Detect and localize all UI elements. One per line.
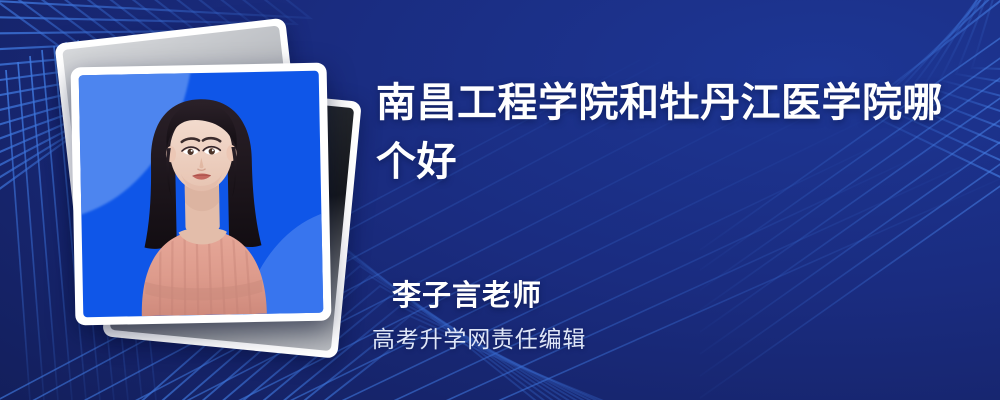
photo-card-front	[71, 63, 332, 326]
author-name: 李子言老师	[392, 272, 542, 314]
author-role: 高考升学网责任编辑	[372, 320, 586, 354]
page-title: 南昌工程学院和牡丹江医学院哪个好	[376, 74, 966, 192]
photo-stack-icon	[52, 28, 352, 348]
portrait-photo-icon	[79, 71, 324, 318]
article-header-banner: 南昌工程学院和牡丹江医学院哪个好 李子言老师 高考升学网责任编辑	[0, 0, 1000, 400]
portrait-figure	[79, 71, 324, 318]
